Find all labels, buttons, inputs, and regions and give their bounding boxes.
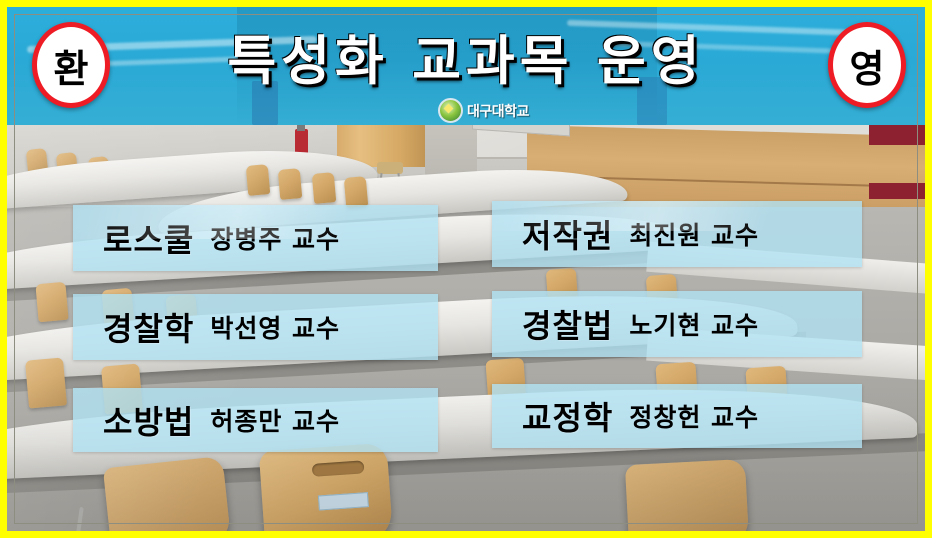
chair <box>312 172 337 204</box>
course-professor: 장병주 교수 <box>210 220 340 256</box>
chair <box>25 357 67 408</box>
chair <box>344 176 369 208</box>
wall-red-band-lower <box>869 183 925 199</box>
course-box-sobangbeop: 소방법 허종만 교수 <box>73 388 438 452</box>
university-logo-text: 대구대학교 <box>467 101 529 121</box>
course-box-gyeongchalhak: 경찰학 박선영 교수 <box>73 294 438 360</box>
course-professor: 허종만 교수 <box>210 402 340 438</box>
chair <box>246 164 271 196</box>
course-subject: 경찰학 <box>103 304 194 350</box>
course-professor: 최진원 교수 <box>629 216 759 252</box>
course-box-gyojeonghak: 교정학 정창헌 교수 <box>492 384 862 448</box>
page-title: 특성화 교과목 운영 <box>7 7 925 107</box>
daegu-university-emblem-icon <box>438 98 463 123</box>
course-subject: 소방법 <box>103 397 194 443</box>
chair-sticker <box>318 492 369 510</box>
university-logo: 대구대학교 <box>438 98 529 123</box>
course-box-gyeongchalbeop: 경찰법 노기현 교수 <box>492 291 862 357</box>
badge-yeong: 영 <box>828 22 906 108</box>
course-subject: 로스쿨 <box>103 215 194 261</box>
course-subject: 경찰법 <box>522 301 613 347</box>
course-professor: 노기현 교수 <box>629 306 759 342</box>
course-professor: 정창헌 교수 <box>629 398 759 434</box>
course-box-roseukul: 로스쿨 장병주 교수 <box>73 205 438 271</box>
course-professor: 박선영 교수 <box>210 309 340 345</box>
course-subject: 교정학 <box>522 393 613 439</box>
course-subject: 저작권 <box>522 211 613 257</box>
course-box-jeojakgwon: 저작권 최진원 교수 <box>492 201 862 267</box>
foreground-chair <box>625 459 749 531</box>
chair <box>278 168 303 200</box>
poster-root: 특성화 교과목 운영 환 영 대구대학교 로스쿨 장병주 교수 저작권 최진원 … <box>0 0 932 538</box>
foreground-chair <box>259 443 394 531</box>
chair-backrest-slot <box>312 460 365 477</box>
chair <box>35 282 68 322</box>
badge-hwan: 환 <box>32 22 110 108</box>
foreground-chair <box>103 456 231 531</box>
